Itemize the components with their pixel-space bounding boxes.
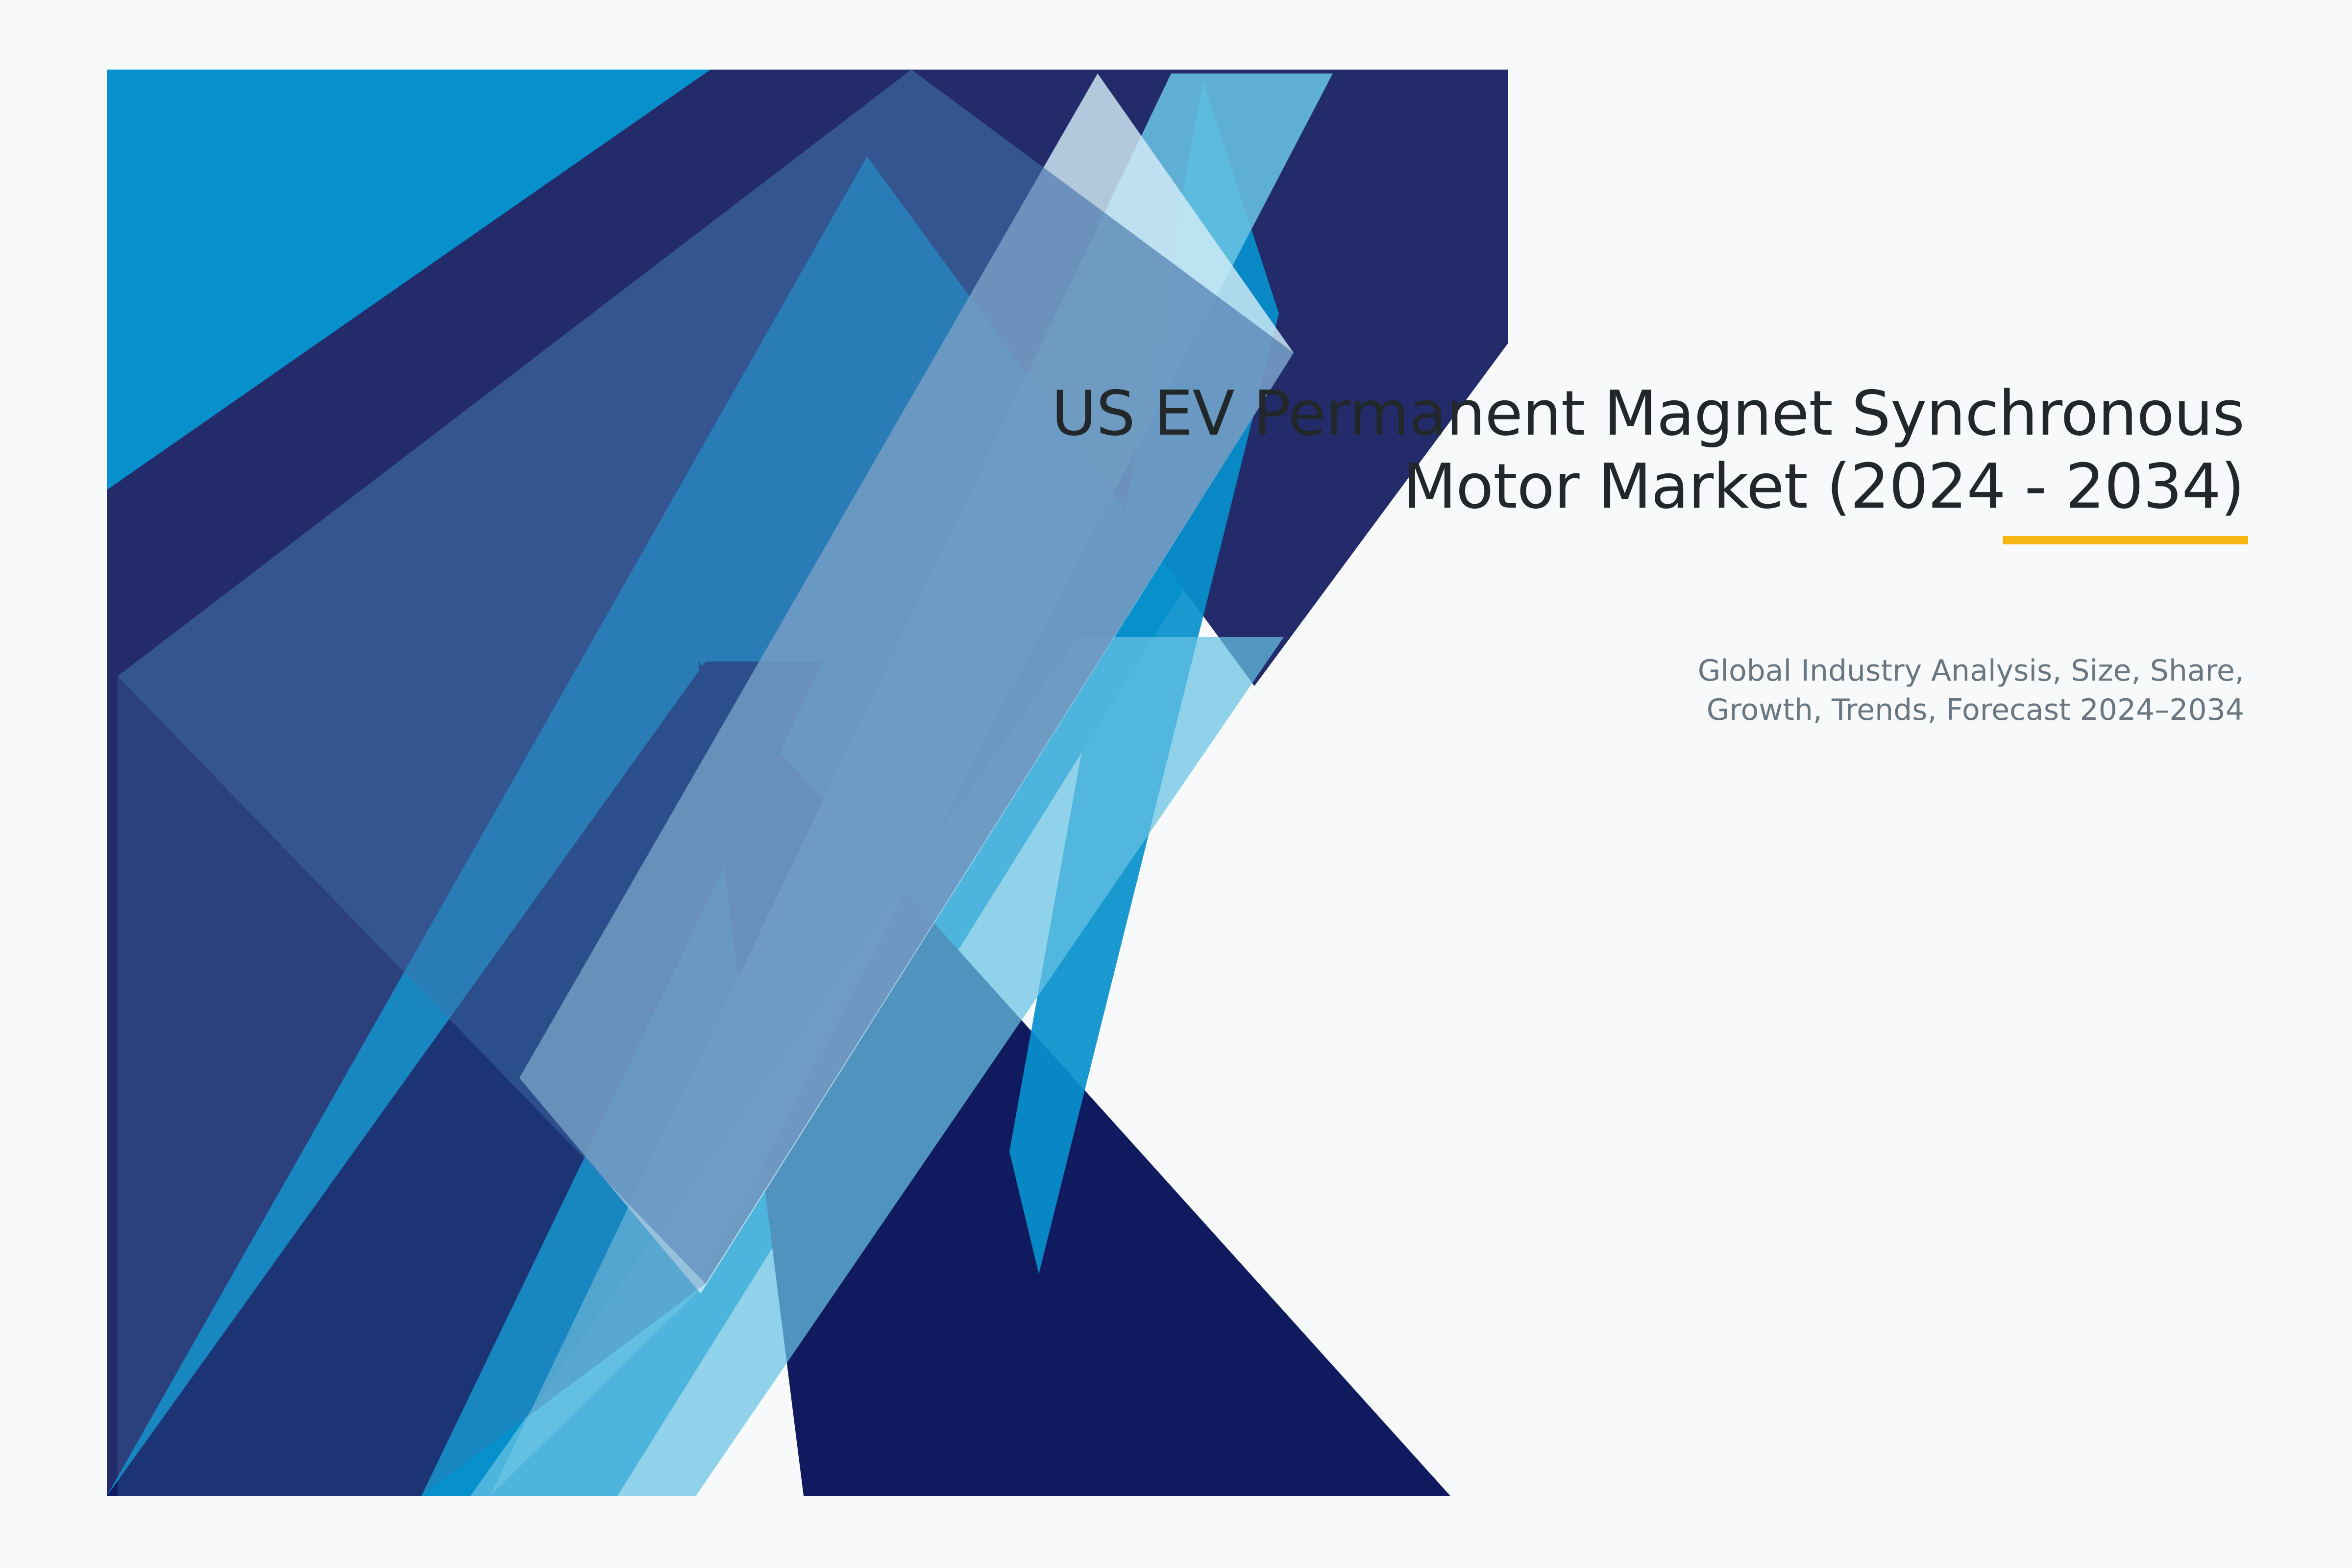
cover-text-block: US EV Permanent Magnet SynchronousMotor …: [735, 377, 2244, 523]
title-accent-underline: [2003, 536, 2248, 544]
report-cover-page: US EV Permanent Magnet SynchronousMotor …: [0, 0, 2352, 1568]
page-subtitle-line-1: Global Industry Analysis, Size, Share,: [1698, 654, 2244, 688]
abstract-geometric-cover-graphic: [0, 0, 2352, 1568]
page-title: US EV Permanent Magnet SynchronousMotor …: [735, 377, 2244, 523]
page-subtitle: Global Industry Analysis, Size, Share,Gr…: [1411, 652, 2244, 730]
page-title-line-2: Motor Market (2024 - 2034): [1403, 450, 2244, 522]
page-title-line-1: US EV Permanent Magnet Synchronous: [1052, 377, 2244, 449]
page-subtitle-line-2: Growth, Trends, Forecast 2024–2034: [1707, 693, 2244, 727]
